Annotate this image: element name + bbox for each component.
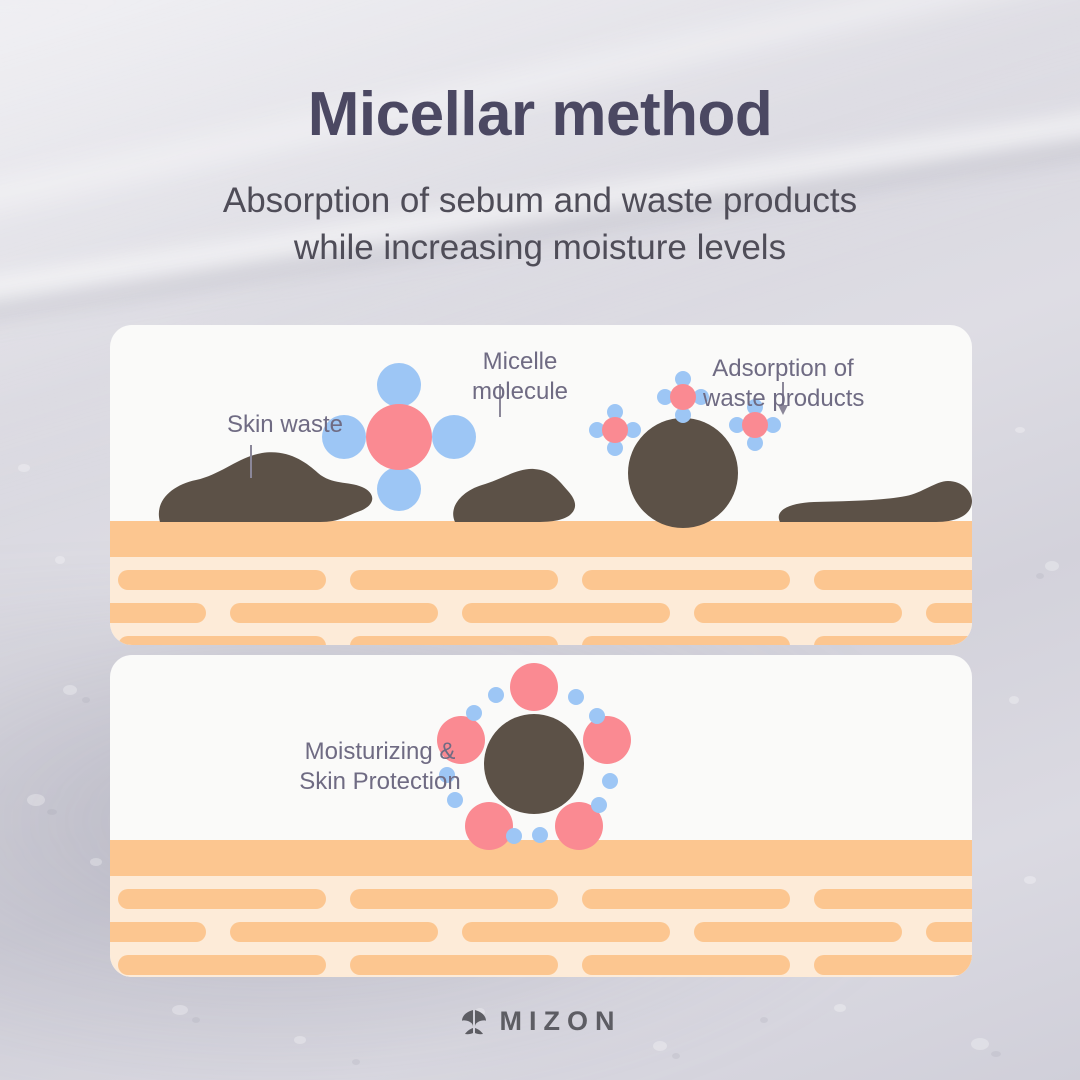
subtitle-line-1: Absorption of sebum and waste products: [0, 178, 1080, 225]
skin-layer: [110, 840, 972, 977]
brand-name: MIZON: [500, 1006, 622, 1037]
waste-sphere: [484, 714, 584, 814]
waste-sphere: [628, 418, 738, 528]
label-adsorption: Adsorption of waste products: [703, 354, 863, 414]
leaf-petal-icon: [459, 1007, 489, 1037]
moisturizing-panel: Moisturizing & Skin Protection: [110, 655, 972, 977]
label-skin-waste: Skin waste: [205, 410, 365, 440]
subtitle-line-2: while increasing moisture levels: [0, 225, 1080, 272]
label-moisturizing: Moisturizing & Skin Protection: [275, 737, 485, 797]
brand-logo: MIZON: [0, 1006, 1080, 1037]
page-title: Micellar method: [0, 82, 1080, 147]
absorption-panel: Skin waste Micelle molecule Adsorption o…: [110, 325, 972, 645]
skin-layer: [110, 521, 972, 645]
moisturizing-illustration: [110, 655, 972, 977]
label-micelle-molecule: Micelle molecule: [440, 347, 600, 407]
skin-waste-deposits: [159, 452, 972, 522]
page-subtitle: Absorption of sebum and waste products w…: [0, 178, 1080, 271]
